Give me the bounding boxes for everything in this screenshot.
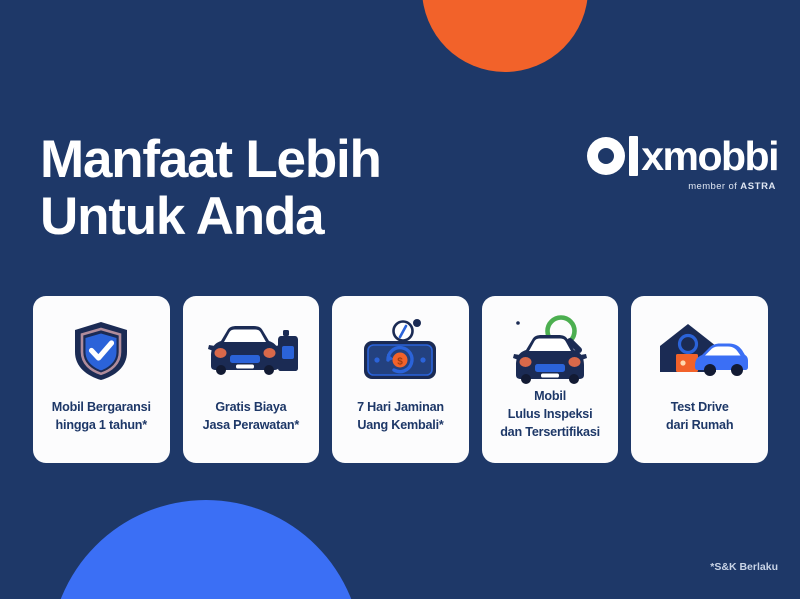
benefit-card-test-drive[interactable]: Test Drive dari Rumah (631, 296, 768, 463)
benefit-card-label: Gratis Biaya Jasa Perawatan* (203, 399, 299, 435)
car-maintenance-icon (203, 314, 299, 388)
headline-line-2: Untuk Anda (40, 188, 510, 245)
benefit-card-free-service[interactable]: Gratis Biaya Jasa Perawatan* (183, 296, 320, 463)
benefit-card-label: 7 Hari Jaminan Uang Kembali* (357, 399, 444, 435)
page-title: Manfaat Lebih Untuk Anda (40, 131, 510, 245)
benefit-card-label: Mobil Bergaransi hingga 1 tahun* (52, 399, 151, 435)
logo-tagline-brand: ASTRA (740, 181, 776, 192)
money-back-icon: $ (354, 314, 446, 388)
logo-tagline-prefix: member of (688, 181, 740, 192)
benefit-card-label: Test Drive dari Rumah (666, 399, 733, 435)
brand-logo: xmobbi member of ASTRA (587, 134, 778, 192)
logo-bar-icon (629, 136, 638, 176)
logo-wordmark-text: xmobbi (641, 136, 778, 177)
benefit-card-label: Mobil Lulus Inspeksi dan Tersertifikasi (500, 388, 600, 442)
benefit-card-list: Mobil Bergaransi hingga 1 tahun* (33, 296, 768, 463)
home-test-drive-icon (650, 314, 750, 388)
car-inspection-icon (504, 314, 596, 388)
logo-tagline: member of ASTRA (587, 181, 776, 192)
orange-decorative-circle (422, 0, 588, 72)
benefit-card-inspection[interactable]: Mobil Lulus Inspeksi dan Tersertifikasi (482, 296, 619, 463)
headline-line-1: Manfaat Lebih (40, 131, 510, 188)
benefit-card-warranty[interactable]: Mobil Bergaransi hingga 1 tahun* (33, 296, 170, 463)
svg-text:$: $ (398, 357, 404, 368)
blue-decorative-circle (50, 500, 362, 599)
logo-wordmark: xmobbi (587, 134, 778, 178)
benefit-card-money-back[interactable]: $ 7 Hari Jaminan Uang Kembali* (332, 296, 469, 463)
promo-banner: Manfaat Lebih Untuk Anda xmobbi member o… (0, 0, 800, 599)
terms-footnote: *S&K Berlaku (710, 561, 778, 573)
shield-check-icon (70, 314, 132, 388)
logo-o-icon (587, 137, 625, 175)
